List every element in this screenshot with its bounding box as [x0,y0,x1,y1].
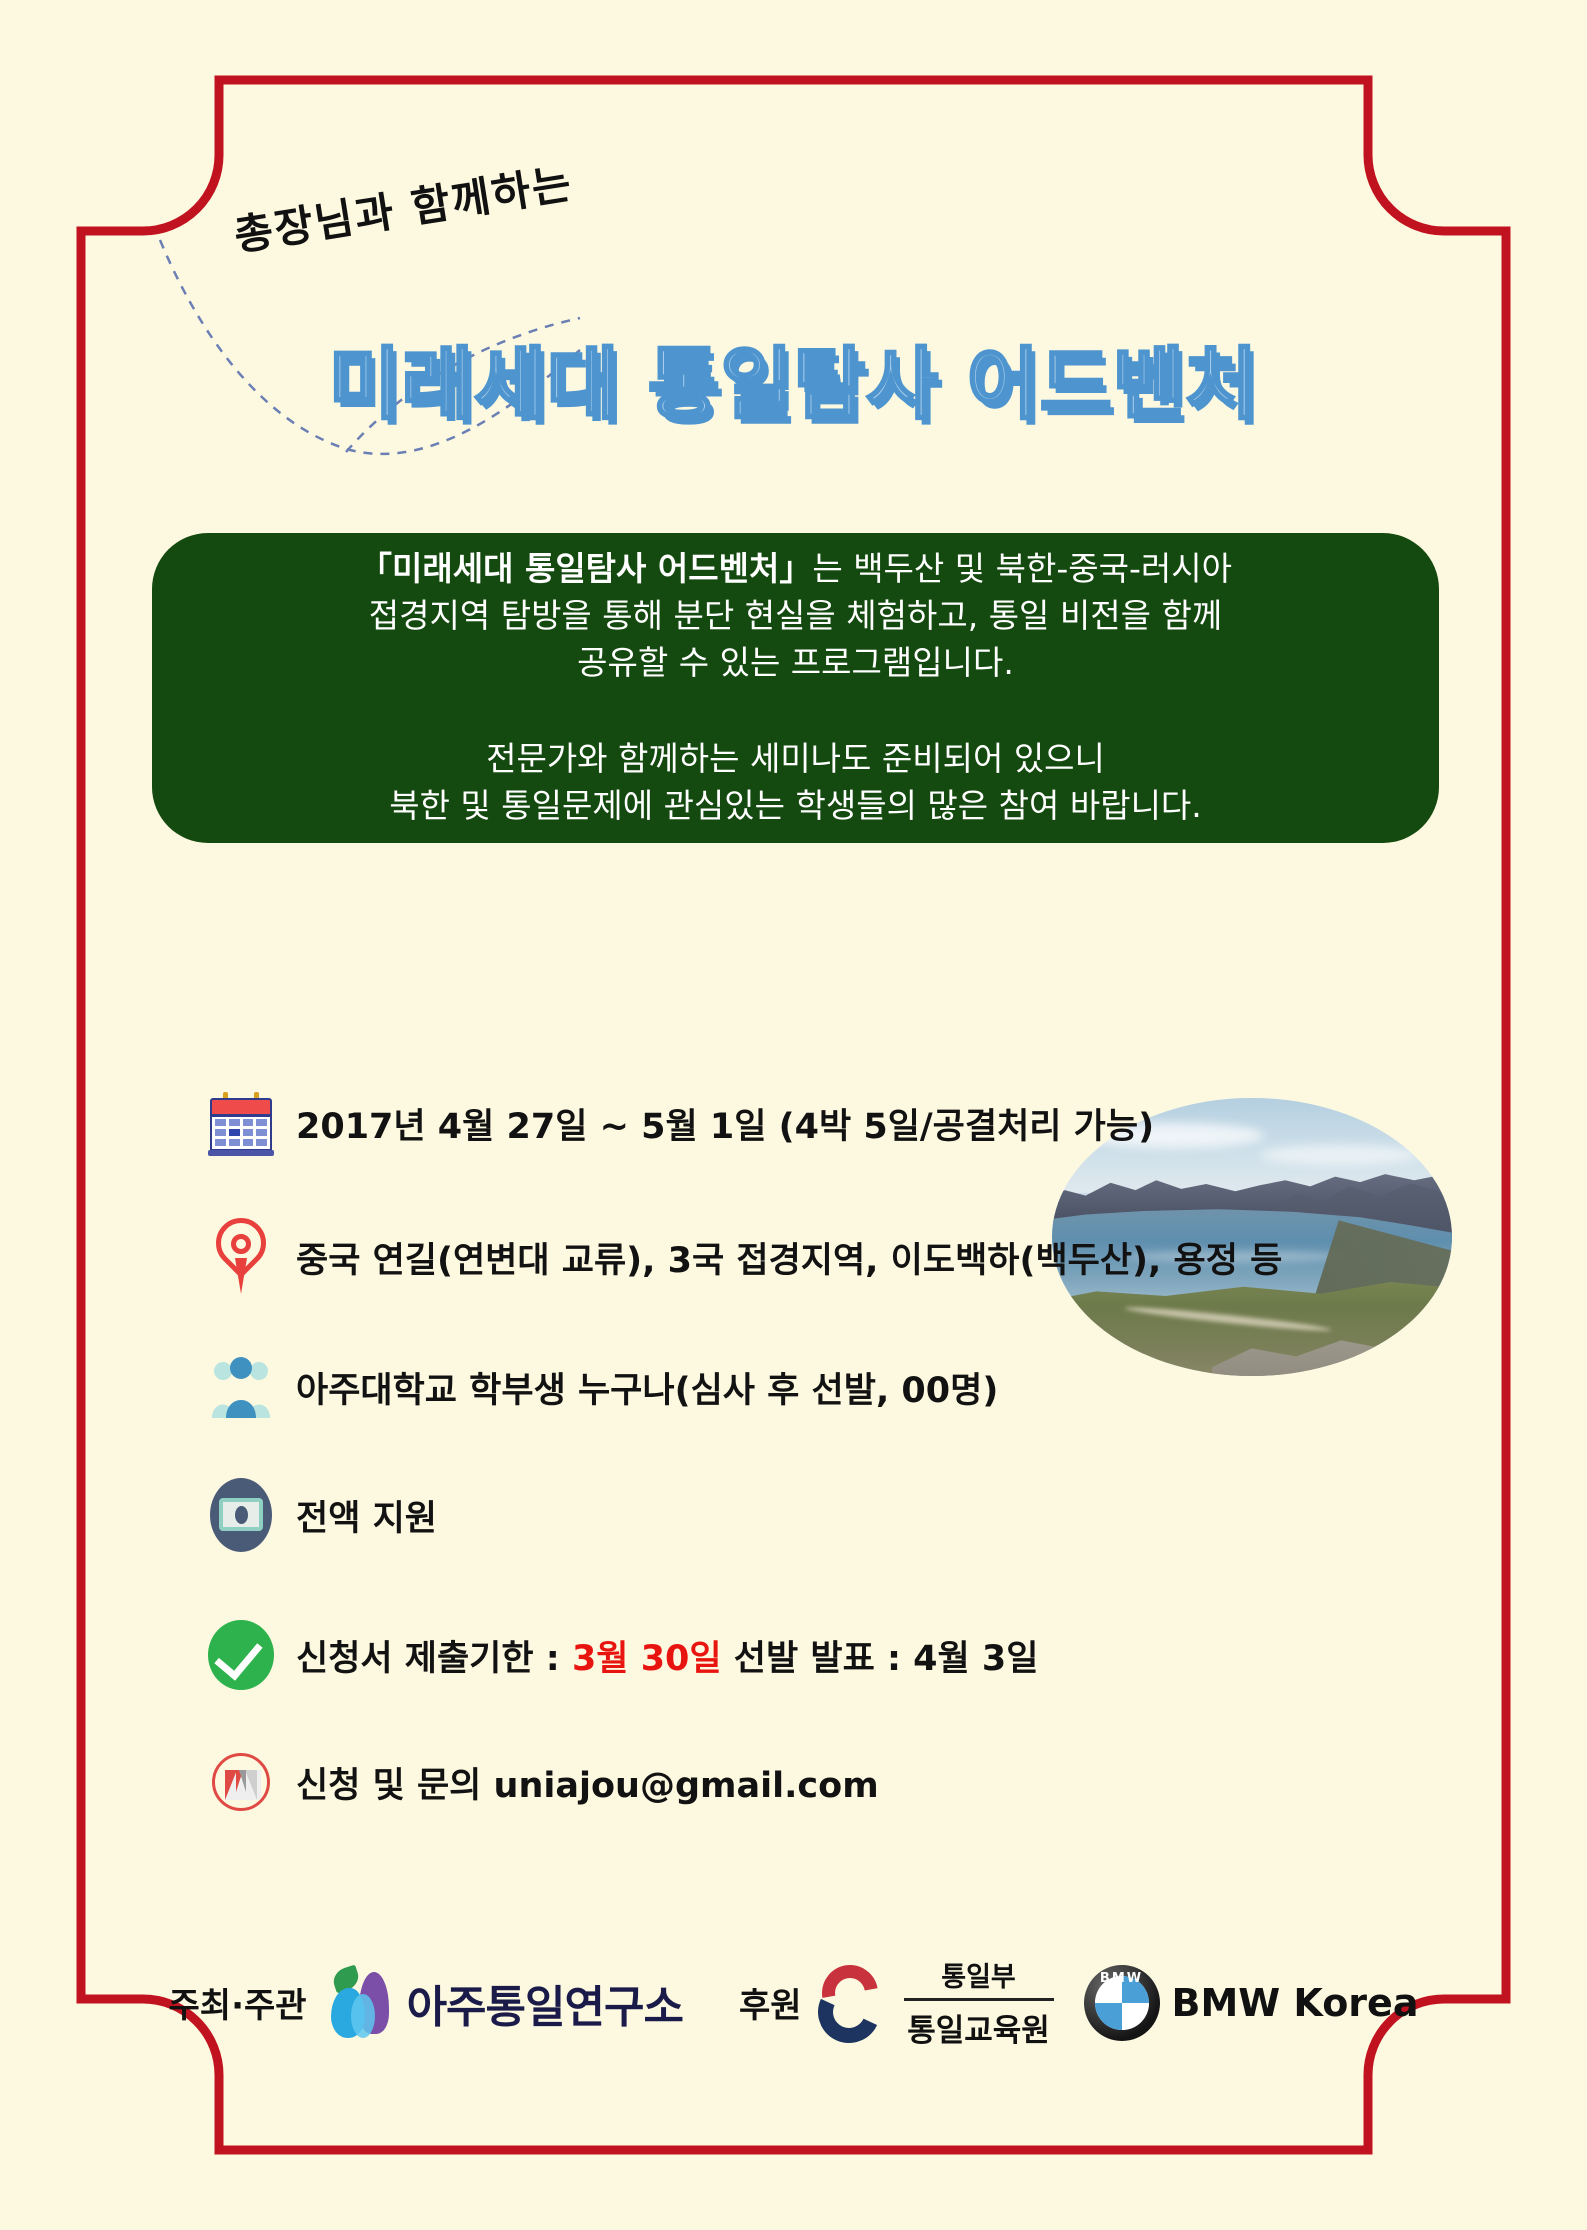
info-row-locations: 중국 연길(연변대 교류), 3국 접경지역, 이도백하(백두산), 용정 등 [186,1218,1426,1296]
aju-unification-institute-logo: 아주통일연구소 [325,1964,683,2042]
map-pin-icon [186,1218,296,1296]
ministry-line-2: 통일교육원 [907,2005,1050,2050]
money-icon [186,1478,296,1552]
sponsor-label: 후원 [739,1978,802,2027]
description-line-5: 북한 및 통일문제에 관심있는 학생들의 많은 참여 바랍니다. [389,786,1202,825]
info-text-dates: 2017년 4월 27일 ~ 5월 1일 (4박 5일/공결처리 가능) [296,1098,1154,1149]
korea-government-taegeuk-icon [816,1961,890,2045]
calendar-icon [186,1090,296,1156]
bmw-korea-logo: BMW BMW Korea [1084,1965,1419,2041]
organizer-name: 아주통일연구소 [407,1971,683,2035]
description-line-3: 공유할 수 있는 프로그램입니다. [577,643,1014,682]
footer-logos: 주최·주관 아주통일연구소 후원 통일부 통일교육원 BMW [0,1955,1587,2050]
description-line-2: 접경지역 탐방을 통해 분단 현실을 체험하고, 통일 비전을 함께 [369,596,1222,635]
description-paragraph-2: 전문가와 함께하는 세미나도 준비되어 있으니 북한 및 통일문제에 관심있는 … [389,736,1202,830]
info-text-contact[interactable]: 신청 및 문의 uniajou@gmail.com [296,1757,879,1808]
info-text-deadline: 신청서 제출기한 : 3월 30일 선발 발표 : 4월 3일 [296,1630,1038,1681]
ministry-line-1: 통일부 [941,1955,1016,1994]
info-row-funding: 전액 지원 [186,1478,1426,1552]
page-title: 미래세대 통일탐사 어드벤처 [0,322,1587,434]
gmail-icon[interactable] [186,1753,296,1811]
bmw-roundel-label: BMW [1084,1971,1160,1986]
description-line-1-rest: 는 백두산 및 북한-중국-러시아 [812,549,1232,588]
ministry-divider [904,1998,1054,2001]
info-row-eligibility: 아주대학교 학부생 누구나(심사 후 선발, 00명) [186,1356,1426,1418]
info-row-contact: 신청 및 문의 uniajou@gmail.com [186,1752,1426,1812]
description-paragraph-1: 「미래세대 통일탐사 어드벤처」는 백두산 및 북한-중국-러시아 접경지역 탐… [359,546,1232,687]
program-name-emphasis: 「미래세대 통일탐사 어드벤처」 [359,549,812,588]
info-row-dates: 2017년 4월 27일 ~ 5월 1일 (4박 5일/공결처리 가능) [186,1090,1426,1156]
deadline-prefix: 신청서 제출기한 : [296,1639,572,1679]
deadline-highlight: 3월 30일 [572,1639,722,1679]
organizer-label: 주최·주관 [169,1978,307,2027]
bmw-roundel-icon: BMW [1084,1965,1160,2041]
info-text-funding: 전액 지원 [296,1490,437,1541]
sponsor-block: 후원 통일부 통일교육원 [739,1955,1054,2050]
info-text-locations: 중국 연길(연변대 교류), 3국 접경지역, 이도백하(백두산), 용정 등 [296,1232,1282,1283]
info-list: 2017년 4월 27일 ~ 5월 1일 (4박 5일/공결처리 가능) 중국 … [186,1090,1426,1812]
deadline-suffix: 선발 발표 : 4월 3일 [722,1639,1039,1679]
people-icon [186,1356,296,1418]
description-line-4: 전문가와 함께하는 세미나도 준비되어 있으니 [486,739,1105,778]
ministry-of-unification-logo: 통일부 통일교육원 [904,1955,1054,2050]
description-panel: 「미래세대 통일탐사 어드벤처」는 백두산 및 북한-중국-러시아 접경지역 탐… [152,533,1439,843]
info-row-deadline: 신청서 제출기한 : 3월 30일 선발 발표 : 4월 3일 [186,1620,1426,1690]
info-text-eligibility: 아주대학교 학부생 누구나(심사 후 선발, 00명) [296,1362,998,1413]
bmw-korea-name: BMW Korea [1172,1981,1419,2025]
check-circle-icon [186,1620,296,1690]
aju-flower-mark [325,1964,399,2042]
